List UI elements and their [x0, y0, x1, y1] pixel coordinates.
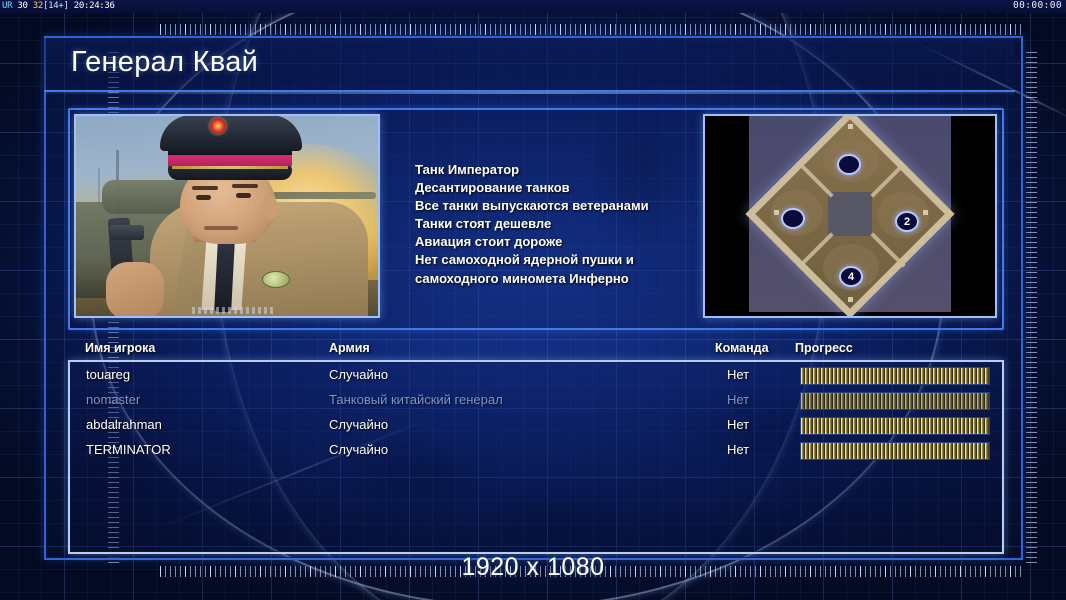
- map-corner-e: [923, 210, 928, 215]
- player-progress-bar: [800, 417, 990, 435]
- map-corner-n: [848, 124, 853, 129]
- portrait-cap-crown: [160, 115, 302, 151]
- map-start-position[interactable]: 2: [895, 211, 919, 232]
- portrait-brow-left: [192, 186, 218, 190]
- portrait-watermark: [192, 307, 276, 314]
- page-title: Генерал Квай: [71, 46, 258, 79]
- column-header-army: Армия: [329, 341, 370, 355]
- player-progress-bar: [800, 442, 990, 460]
- player-name: touareg: [86, 367, 130, 382]
- portrait-eye-right: [236, 193, 251, 198]
- portrait-brow-right: [232, 184, 258, 188]
- player-team[interactable]: Нет: [727, 417, 749, 432]
- player-army[interactable]: Случайно: [329, 442, 388, 457]
- ruler-top: [160, 24, 1022, 35]
- player-name: abdalrahman: [86, 417, 162, 432]
- fps-overlay: UR 30 32[14+] 20:24:36: [2, 0, 115, 12]
- fps-prefix: UR: [2, 1, 12, 11]
- portrait-cap-emblem-icon: [210, 118, 226, 134]
- bonus-line: Танк Император: [415, 161, 685, 179]
- table-row[interactable]: nomaster Танковый китайский генерал Нет: [70, 388, 998, 413]
- bonus-line: Авиация стоит дороже: [415, 233, 685, 251]
- game-lobby-screen: UR 30 32[14+] 20:24:36 00:00:00 Генерал …: [0, 0, 1066, 600]
- fps-value-b: 32: [33, 1, 43, 11]
- progress-fill: [801, 443, 989, 459]
- portrait-hand: [106, 262, 164, 318]
- player-army[interactable]: Случайно: [329, 417, 388, 432]
- progress-fill: [801, 368, 989, 384]
- player-team[interactable]: Нет: [727, 442, 749, 457]
- map-canvas: 2 4: [749, 116, 951, 312]
- portrait-rank-badge: [262, 271, 290, 288]
- general-bonus-list: Танк Император Десантирование танков Все…: [415, 161, 685, 288]
- map-corner-s: [848, 297, 853, 302]
- progress-fill: [801, 418, 989, 434]
- general-portrait: [74, 114, 380, 318]
- fps-timestamp: 20:24:36: [74, 1, 115, 11]
- player-team[interactable]: Нет: [727, 367, 749, 382]
- ruler-right: [1026, 52, 1037, 564]
- fps-value-c: [14+]: [43, 1, 69, 11]
- column-header-team: Команда: [715, 341, 769, 355]
- progress-fill: [801, 393, 989, 409]
- player-team[interactable]: Нет: [727, 392, 749, 407]
- map-preview[interactable]: 2 4: [703, 114, 997, 318]
- table-row[interactable]: touareg Случайно Нет: [70, 363, 998, 388]
- column-header-name: Имя игрока: [85, 341, 155, 355]
- player-progress-bar: [800, 392, 990, 410]
- top-status-bar: UR 30 32[14+] 20:24:36 00:00:00: [0, 0, 1066, 13]
- bonus-line: Все танки выпускаются ветеранами: [415, 197, 685, 215]
- map-start-position[interactable]: [837, 154, 861, 175]
- map-center-plateau: [828, 192, 872, 236]
- bonus-line: Танки стоят дешевле: [415, 215, 685, 233]
- table-row[interactable]: abdalrahman Случайно Нет: [70, 413, 998, 438]
- portrait-ear: [262, 196, 278, 220]
- map-corner-w: [774, 210, 779, 215]
- map-start-position[interactable]: [781, 208, 805, 229]
- player-army[interactable]: Танковый китайский генерал: [329, 392, 503, 407]
- bonus-line: самоходного миномета Инферно: [415, 270, 685, 288]
- fps-value-a: 30: [17, 1, 27, 11]
- player-name: TERMINATOR: [86, 442, 171, 457]
- map-start-position[interactable]: 4: [839, 266, 863, 287]
- session-clock: 00:00:00: [1013, 0, 1062, 12]
- column-header-progress: Прогресс: [795, 341, 853, 355]
- table-row[interactable]: TERMINATOR Случайно Нет: [70, 438, 998, 463]
- portrait-pistol-slide: [110, 225, 144, 240]
- portrait-eye-left: [196, 195, 211, 200]
- player-progress-bar: [800, 367, 990, 385]
- player-name: nomaster: [86, 392, 140, 407]
- portrait-mouth: [204, 226, 238, 230]
- bonus-line: Десантирование танков: [415, 179, 685, 197]
- resolution-overlay: 1920 x 1080: [0, 553, 1066, 582]
- player-army[interactable]: Случайно: [329, 367, 388, 382]
- bonus-line: Нет самоходной ядерной пушки и: [415, 251, 685, 269]
